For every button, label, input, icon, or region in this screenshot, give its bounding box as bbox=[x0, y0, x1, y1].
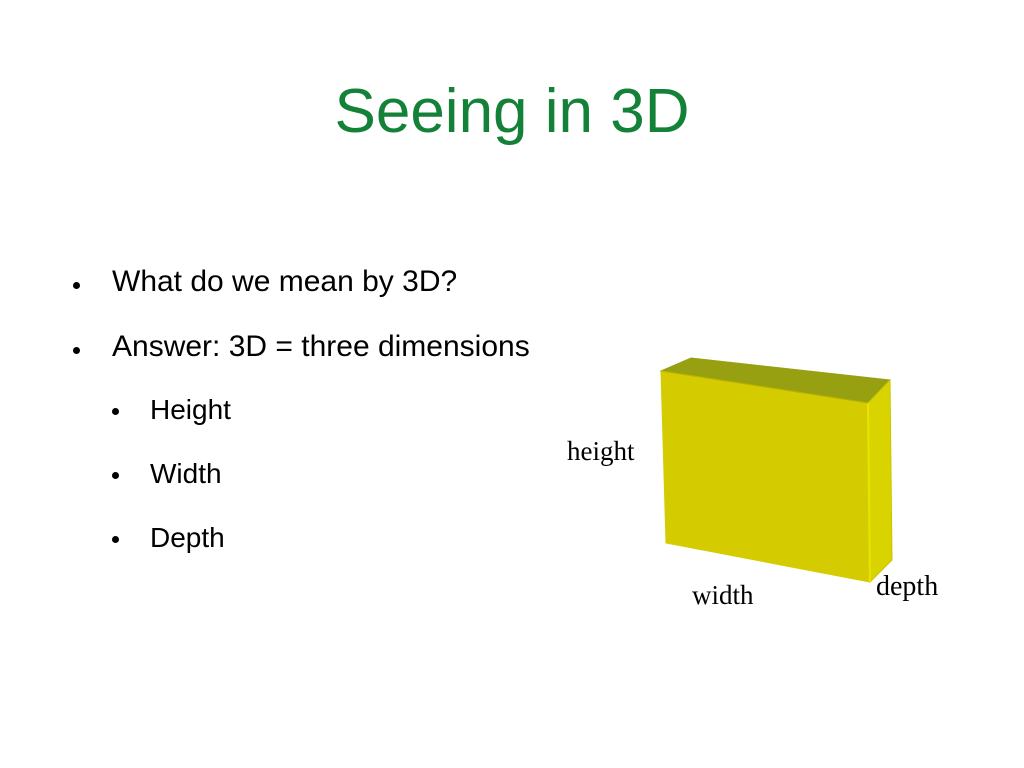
bullet-dot-icon bbox=[112, 408, 119, 415]
list-item: What do we mean by 3D? bbox=[64, 262, 654, 302]
bullet-dot-icon bbox=[73, 282, 80, 289]
bullet-dot-icon bbox=[112, 472, 119, 479]
3d-box-icon bbox=[540, 330, 1010, 630]
label-depth: depth bbox=[876, 573, 938, 601]
label-height: height bbox=[567, 438, 635, 465]
slide-canvas: Seeing in 3D What do we mean by 3D? Answ… bbox=[0, 0, 1024, 768]
bullet-dot-icon bbox=[112, 536, 119, 543]
bullet-dot-icon bbox=[73, 347, 80, 354]
label-width: width bbox=[692, 582, 754, 609]
3d-box-figure: height width depth bbox=[540, 330, 1010, 630]
list-item-label: What do we mean by 3D? bbox=[112, 262, 654, 302]
page-title: Seeing in 3D bbox=[0, 78, 1024, 146]
